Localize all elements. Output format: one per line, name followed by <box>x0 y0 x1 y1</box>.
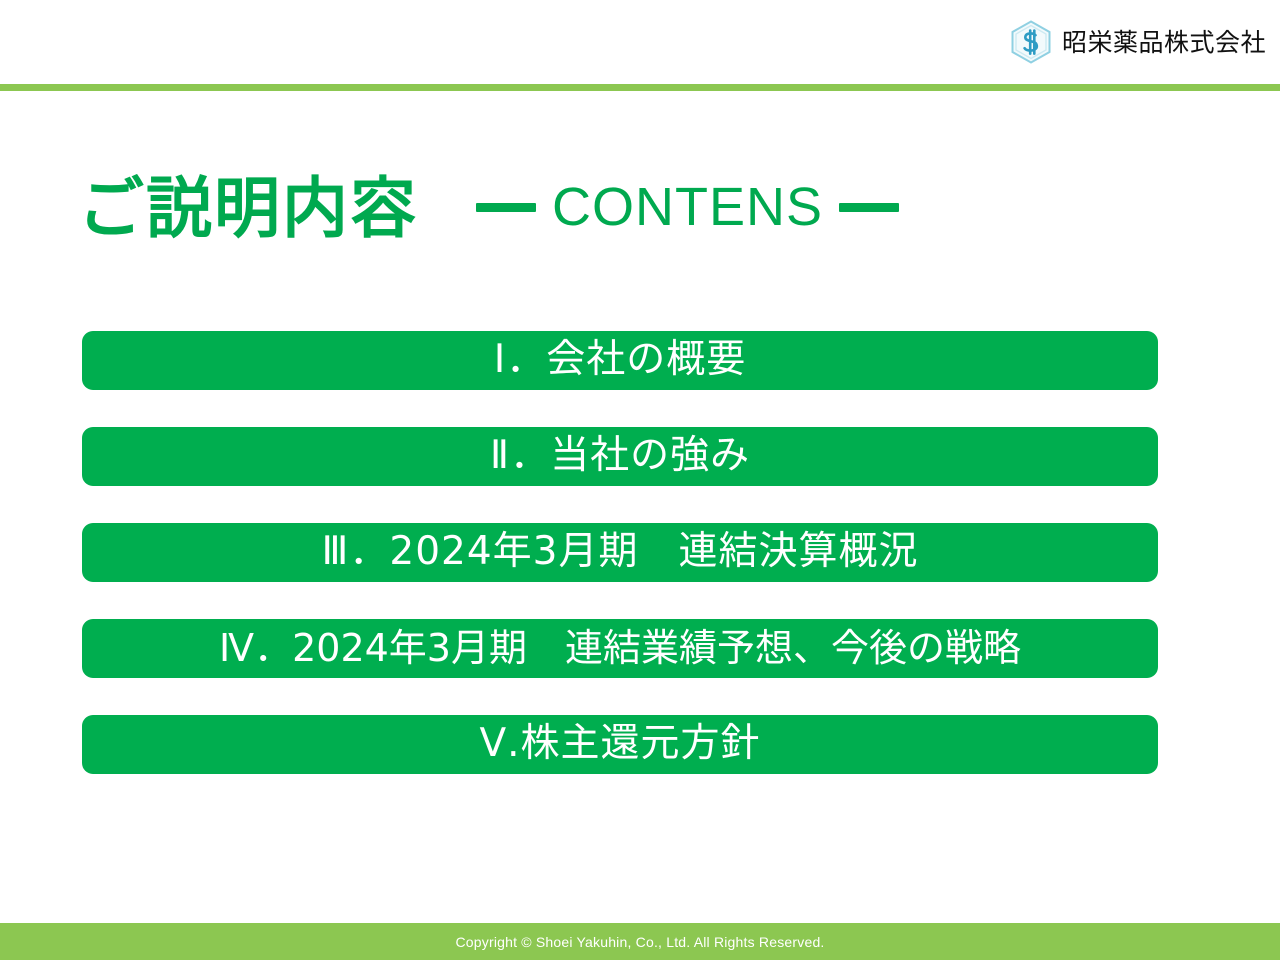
shoei-hexagon-logo-icon <box>1010 20 1052 64</box>
brand-lockup: 昭栄薬品株式会社 <box>1010 20 1266 64</box>
contents-item-5[interactable]: Ⅴ.株主還元方針 <box>82 715 1158 774</box>
slide-footer: Copyright © Shoei Yakuhin, Co., Ltd. All… <box>0 923 1280 960</box>
copyright-text: Copyright © Shoei Yakuhin, Co., Ltd. All… <box>455 935 824 949</box>
contents-item-4[interactable]: Ⅳ．2024年3月期 連結業績予想、今後の戦略 <box>82 619 1158 678</box>
page-title-english-group: CONTENS <box>476 180 899 238</box>
contents-item-label: Ⅳ．2024年3月期 連結業績予想、今後の戦略 <box>219 629 1021 667</box>
dash-right-icon <box>839 203 899 212</box>
contents-item-2[interactable]: Ⅱ．当社の強み <box>82 427 1158 486</box>
contents-item-label: Ⅲ．2024年3月期 連結決算概況 <box>322 532 919 571</box>
contents-item-label: Ⅴ.株主還元方針 <box>479 724 760 763</box>
page-title-japanese: ご説明内容 <box>78 176 418 242</box>
dash-left-icon <box>476 203 536 212</box>
contents-list: Ⅰ．会社の概要 Ⅱ．当社の強み Ⅲ．2024年3月期 連結決算概況 Ⅳ．2024… <box>82 331 1158 774</box>
contents-item-label: Ⅱ．当社の強み <box>490 436 750 475</box>
page-title-english: CONTENS <box>552 180 823 234</box>
header-divider-rule <box>0 84 1280 91</box>
company-name: 昭栄薬品株式会社 <box>1062 30 1266 55</box>
contents-item-label: Ⅰ．会社の概要 <box>494 340 747 379</box>
page-title: ご説明内容 CONTENS <box>78 176 899 242</box>
contents-item-3[interactable]: Ⅲ．2024年3月期 連結決算概況 <box>82 523 1158 582</box>
contents-item-1[interactable]: Ⅰ．会社の概要 <box>82 331 1158 390</box>
slide-header: 昭栄薬品株式会社 <box>0 0 1280 84</box>
